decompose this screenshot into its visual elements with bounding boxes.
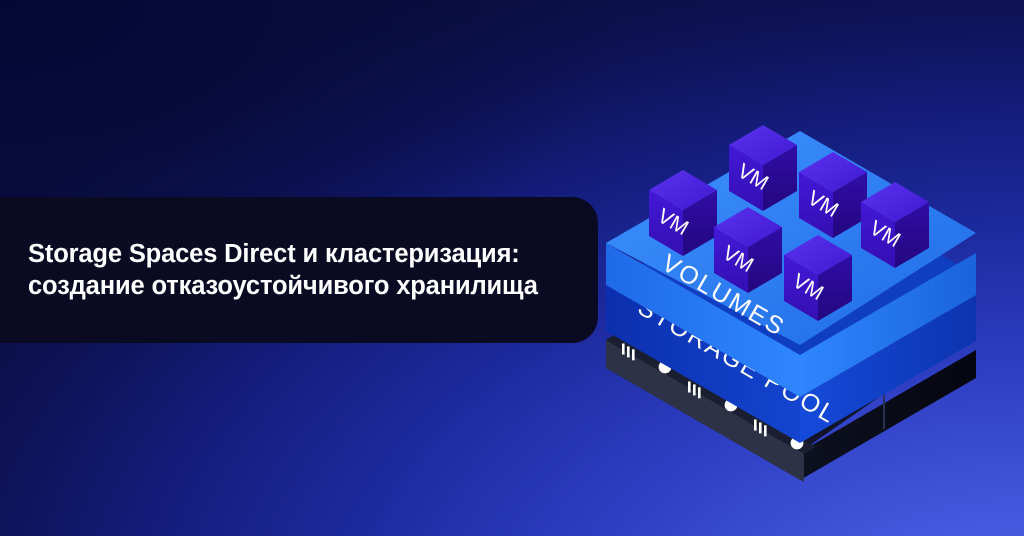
page-title-line-2: создание отказоустойчивого хранилища [28, 270, 564, 302]
banner-image: STORAGE POOL VOLUMES VM [0, 0, 1024, 536]
title-card: Storage Spaces Direct и кластеризация: с… [0, 197, 598, 343]
page-title-line-1: Storage Spaces Direct и кластеризация: [28, 238, 564, 270]
